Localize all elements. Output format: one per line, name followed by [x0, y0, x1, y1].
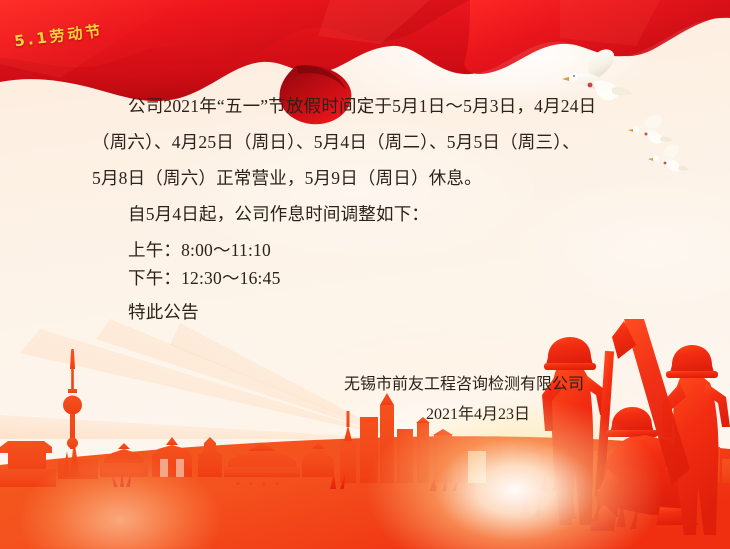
- notice-closing-statement: 特此公告: [128, 299, 199, 324]
- signature-date: 2021年4月23日: [426, 400, 530, 424]
- holiday-notice-poster: 5.1劳动节: [0, 0, 730, 549]
- notice-paragraph1-line2: （周六）、4月25日（周日）、5月4日（周二）、5月5日（周三）、: [92, 129, 580, 154]
- notice-paragraph2-line1: 自5月4日起，公司作息时间调整如下：: [128, 201, 429, 226]
- signature-company: 无锡市前友工程咨询检测有限公司: [344, 370, 584, 394]
- notice-morning-hours: 上午：8:00～11:10: [128, 237, 271, 262]
- bottom-artwork: [0, 319, 730, 549]
- sun-rays: [0, 319, 400, 439]
- cloud-haze: [520, 180, 730, 310]
- notice-paragraph1-line1: 公司2021年“五一”节放假时间定于5月1日～5月3日，4月24日: [128, 93, 596, 118]
- notice-afternoon-hours: 下午：12:30～16:45: [128, 265, 281, 290]
- notice-paragraph1-line3: 5月8日（周六）正常营业，5月9日（周日）休息。: [92, 165, 482, 190]
- dove-icon: [648, 143, 690, 180]
